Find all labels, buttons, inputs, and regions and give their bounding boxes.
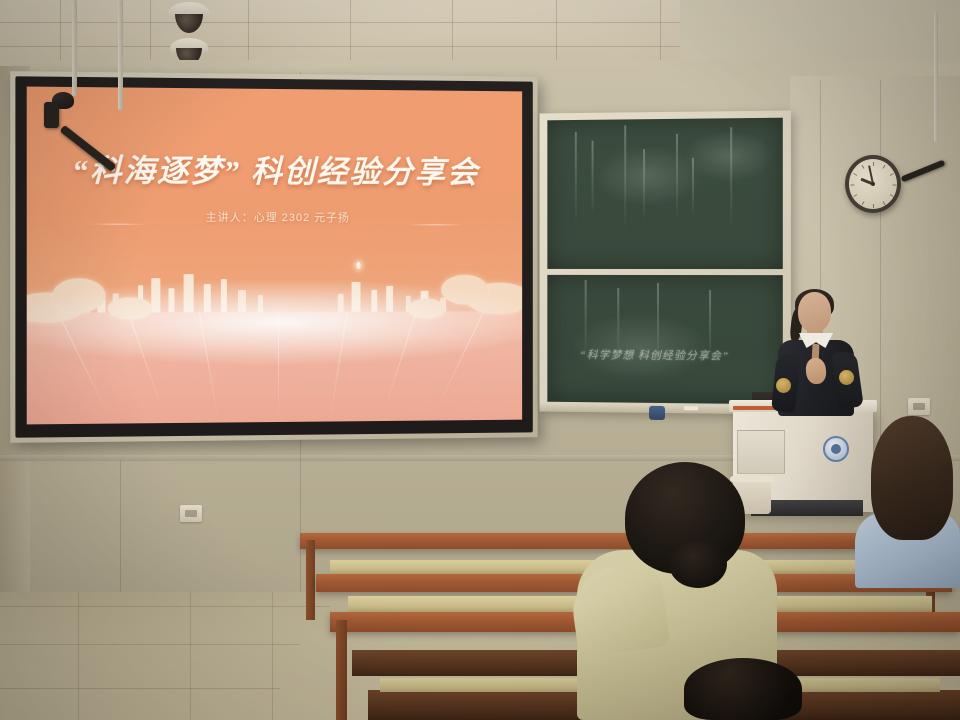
student-right-hair: [871, 416, 953, 540]
slide-title: “科海逐梦” 科创经验分享会: [27, 144, 522, 192]
presenter-shoulder-patch-right: [839, 370, 854, 385]
mount-rod-left: [72, 0, 77, 96]
student-bottom-right: [684, 658, 804, 720]
wall-socket-right: [908, 398, 930, 415]
projection-screen[interactable]: “科海逐梦” 科创经验分享会 主讲人：心理 2302 元子扬: [10, 71, 537, 443]
wall-clock: [845, 155, 901, 213]
clock-center-pin: [871, 182, 875, 186]
blackboard-upper-panel: [547, 118, 782, 269]
presenter-shoulder-patch-left: [776, 378, 791, 393]
student-bottom-right-hair: [684, 658, 802, 720]
presenter: [772, 292, 858, 416]
blackboard-writing: “科学梦想 科创经验分享会”: [580, 346, 729, 363]
mount-arm-vertical: [44, 102, 59, 128]
slide-surface: “科海逐梦” 科创经验分享会 主讲人：心理 2302 元子扬: [27, 87, 522, 425]
wall-socket-left: [180, 505, 202, 522]
classroom-scene: “科海逐梦” 科创经验分享会 主讲人：心理 2302 元子扬: [0, 0, 960, 720]
mount-rod-right-wall: [934, 12, 938, 142]
blackboard: “科学梦想 科创经验分享会”: [540, 111, 791, 414]
dome-camera-left-upper: [168, 2, 210, 34]
blackboard-lower-panel: “科学梦想 科创经验分享会”: [547, 275, 782, 404]
slide-horizon-glow: [27, 278, 522, 367]
screen-bezel: “科海逐梦” 科创经验分享会 主讲人：心理 2302 元子扬: [15, 76, 532, 437]
board-magnet-hook: [649, 406, 665, 420]
lectern-emblem: [823, 436, 849, 462]
camera-dome: [175, 14, 204, 34]
bench-leg-front-left: [336, 620, 347, 720]
bench-leg-back-left: [306, 540, 315, 620]
slide-subtitle: 主讲人：心理 2302 元子扬: [27, 208, 522, 225]
student-right: [849, 416, 960, 586]
mount-rod-right: [118, 0, 123, 110]
student-front-center-bun: [669, 540, 727, 588]
